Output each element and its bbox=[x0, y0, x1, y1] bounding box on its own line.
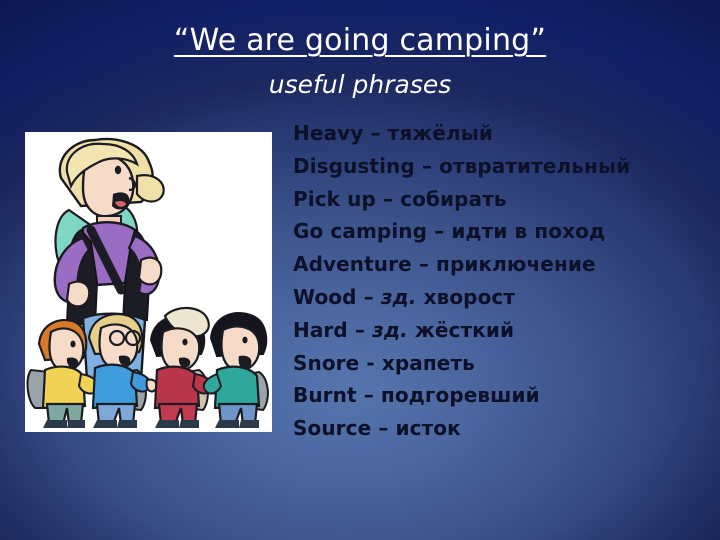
phrase-russian: собирать bbox=[400, 187, 506, 211]
phrase-item: Adventure – приключение bbox=[293, 248, 713, 281]
phrase-english: Pick up bbox=[293, 187, 376, 211]
phrase-english: Disgusting bbox=[293, 154, 415, 178]
phrase-english: Wood bbox=[293, 285, 357, 309]
phrase-english: Hard bbox=[293, 318, 348, 342]
phrase-russian: отвратительный bbox=[439, 154, 630, 178]
presentation-slide: “We are going camping” useful phrases bbox=[0, 0, 720, 540]
phrase-dash: – bbox=[364, 285, 374, 309]
phrase-english: Go camping bbox=[293, 219, 427, 243]
phrase-item: Disgusting – отвратительный bbox=[293, 150, 713, 183]
title-block: “We are going camping” useful phrases bbox=[0, 22, 720, 100]
phrase-item: Hard – зд. жёсткий bbox=[293, 314, 713, 347]
phrase-english: Snore bbox=[293, 351, 359, 375]
phrase-dash: - bbox=[366, 351, 374, 375]
phrase-item: Go camping – идти в поход bbox=[293, 215, 713, 248]
phrase-note: зд. bbox=[372, 318, 408, 342]
phrase-dash: – bbox=[422, 154, 432, 178]
phrase-item: Source – исток bbox=[293, 412, 713, 445]
cartoon-campers-illustration bbox=[25, 132, 272, 432]
phrase-russian: идти в поход bbox=[451, 219, 605, 243]
phrase-russian: исток bbox=[396, 416, 461, 440]
phrase-item: Burnt – подгоревший bbox=[293, 379, 713, 412]
phrase-russian: хворост bbox=[424, 285, 516, 309]
page-title: “We are going camping” bbox=[174, 22, 546, 60]
phrase-dash: – bbox=[383, 187, 393, 211]
phrase-russian: храпеть bbox=[382, 351, 475, 375]
phrase-item: Wood – зд. хворост bbox=[293, 281, 713, 314]
phrase-russian: жёсткий bbox=[415, 318, 514, 342]
phrase-english: Adventure bbox=[293, 252, 412, 276]
phrase-dash: – bbox=[355, 318, 365, 342]
phrase-item: Snore - храпеть bbox=[293, 347, 713, 380]
page-subtitle: useful phrases bbox=[0, 70, 720, 100]
phrase-item: Pick up – собирать bbox=[293, 183, 713, 216]
phrase-dash: – bbox=[364, 383, 374, 407]
phrase-item: Heavy – тяжёлый bbox=[293, 117, 713, 150]
phrase-dash: – bbox=[434, 219, 444, 243]
clipart-image bbox=[25, 132, 272, 432]
phrase-dash: – bbox=[419, 252, 429, 276]
phrase-dash: – bbox=[378, 416, 388, 440]
phrase-russian: тяжёлый bbox=[388, 121, 493, 145]
useful-phrases-list: Heavy – тяжёлый Disgusting – отвратитель… bbox=[293, 117, 713, 445]
phrase-english: Source bbox=[293, 416, 371, 440]
phrase-note: зд. bbox=[381, 285, 417, 309]
phrase-russian: приключение bbox=[436, 252, 596, 276]
phrase-dash: – bbox=[370, 121, 380, 145]
phrase-english: Heavy bbox=[293, 121, 363, 145]
phrase-russian: подгоревший bbox=[381, 383, 540, 407]
phrase-english: Burnt bbox=[293, 383, 357, 407]
